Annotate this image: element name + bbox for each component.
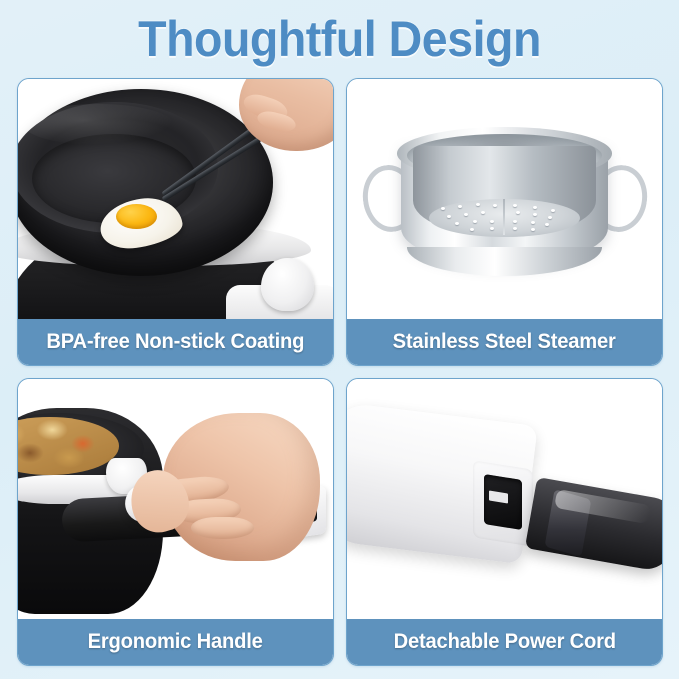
feature-panel-grid: BPA-free Non-stick Coating: [17, 78, 663, 666]
fried-egg-yolk-icon: [116, 204, 157, 229]
photo-detachable-cord: [347, 379, 662, 619]
photo-steel-steamer: [347, 79, 662, 319]
pan-bowl-icon: [18, 89, 273, 276]
steamer-foot-ring-icon: [407, 247, 602, 276]
pan-gloss-highlight-icon: [24, 104, 172, 145]
title-container: Thoughtful Design: [0, 8, 679, 70]
caption-text-power-cord: Detachable Power Cord: [393, 630, 615, 654]
feature-panel-power-cord[interactable]: Detachable Power Cord: [346, 378, 663, 666]
control-knob-icon: [261, 258, 315, 311]
power-socket-opening-icon: [484, 474, 522, 530]
feature-panel-handle[interactable]: Ergonomic Handle: [17, 378, 334, 666]
detachable-plug-icon: [525, 477, 662, 573]
feature-panel-steamer[interactable]: Stainless Steel Steamer: [346, 78, 663, 366]
photo-nonstick-pan: [18, 79, 333, 319]
caption-text-steamer: Stainless Steel Steamer: [393, 330, 616, 354]
panel-caption-bar: Detachable Power Cord: [347, 619, 662, 665]
panel-caption-bar: BPA-free Non-stick Coating: [18, 319, 333, 365]
panel-caption-bar: Stainless Steel Steamer: [347, 319, 662, 365]
hand-gripping-handle-icon: [163, 413, 321, 562]
caption-text-handle: Ergonomic Handle: [88, 630, 263, 654]
infographic-page: Thoughtful Design: [0, 0, 679, 679]
feature-panel-nonstick[interactable]: BPA-free Non-stick Coating: [17, 78, 334, 366]
feature-cell-handle: Ergonomic Handle: [17, 372, 340, 666]
steamer-assembly-icon: [347, 79, 662, 319]
photo-ergonomic-handle: [18, 379, 333, 619]
panel-caption-bar: Ergonomic Handle: [18, 619, 333, 665]
feature-cell-steamer: Stainless Steel Steamer: [340, 78, 663, 372]
feature-cell-nonstick: BPA-free Non-stick Coating: [17, 78, 340, 372]
finger-icon: [255, 108, 297, 134]
page-title: Thoughtful Design: [138, 10, 541, 68]
finger-icon: [191, 517, 254, 539]
feature-cell-power-cord: Detachable Power Cord: [340, 372, 663, 666]
steamer-holes-group-icon: [432, 201, 577, 235]
caption-text-nonstick: BPA-free Non-stick Coating: [47, 330, 305, 354]
